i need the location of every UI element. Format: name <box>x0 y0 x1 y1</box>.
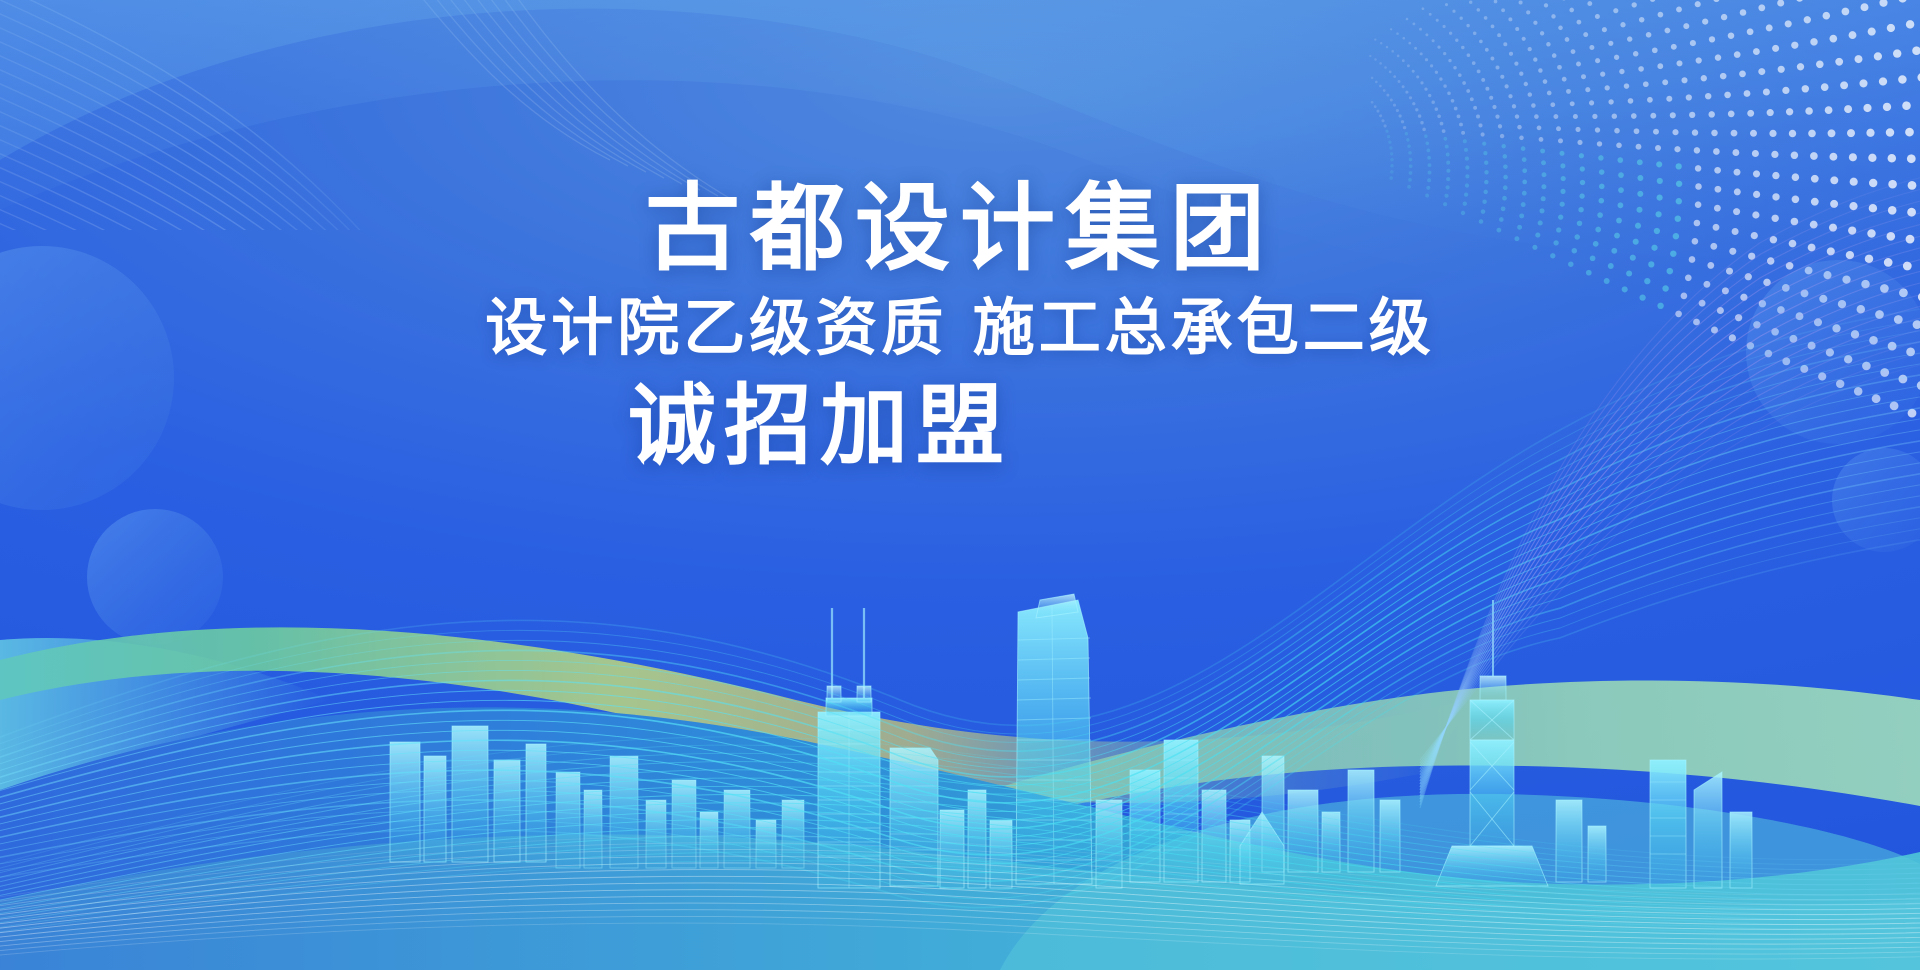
promo-banner: 古都设计集团 设计院乙级资质 施工总承包二级 诚招加盟 <box>0 0 1920 970</box>
white-ribbon-lines <box>0 0 1920 970</box>
